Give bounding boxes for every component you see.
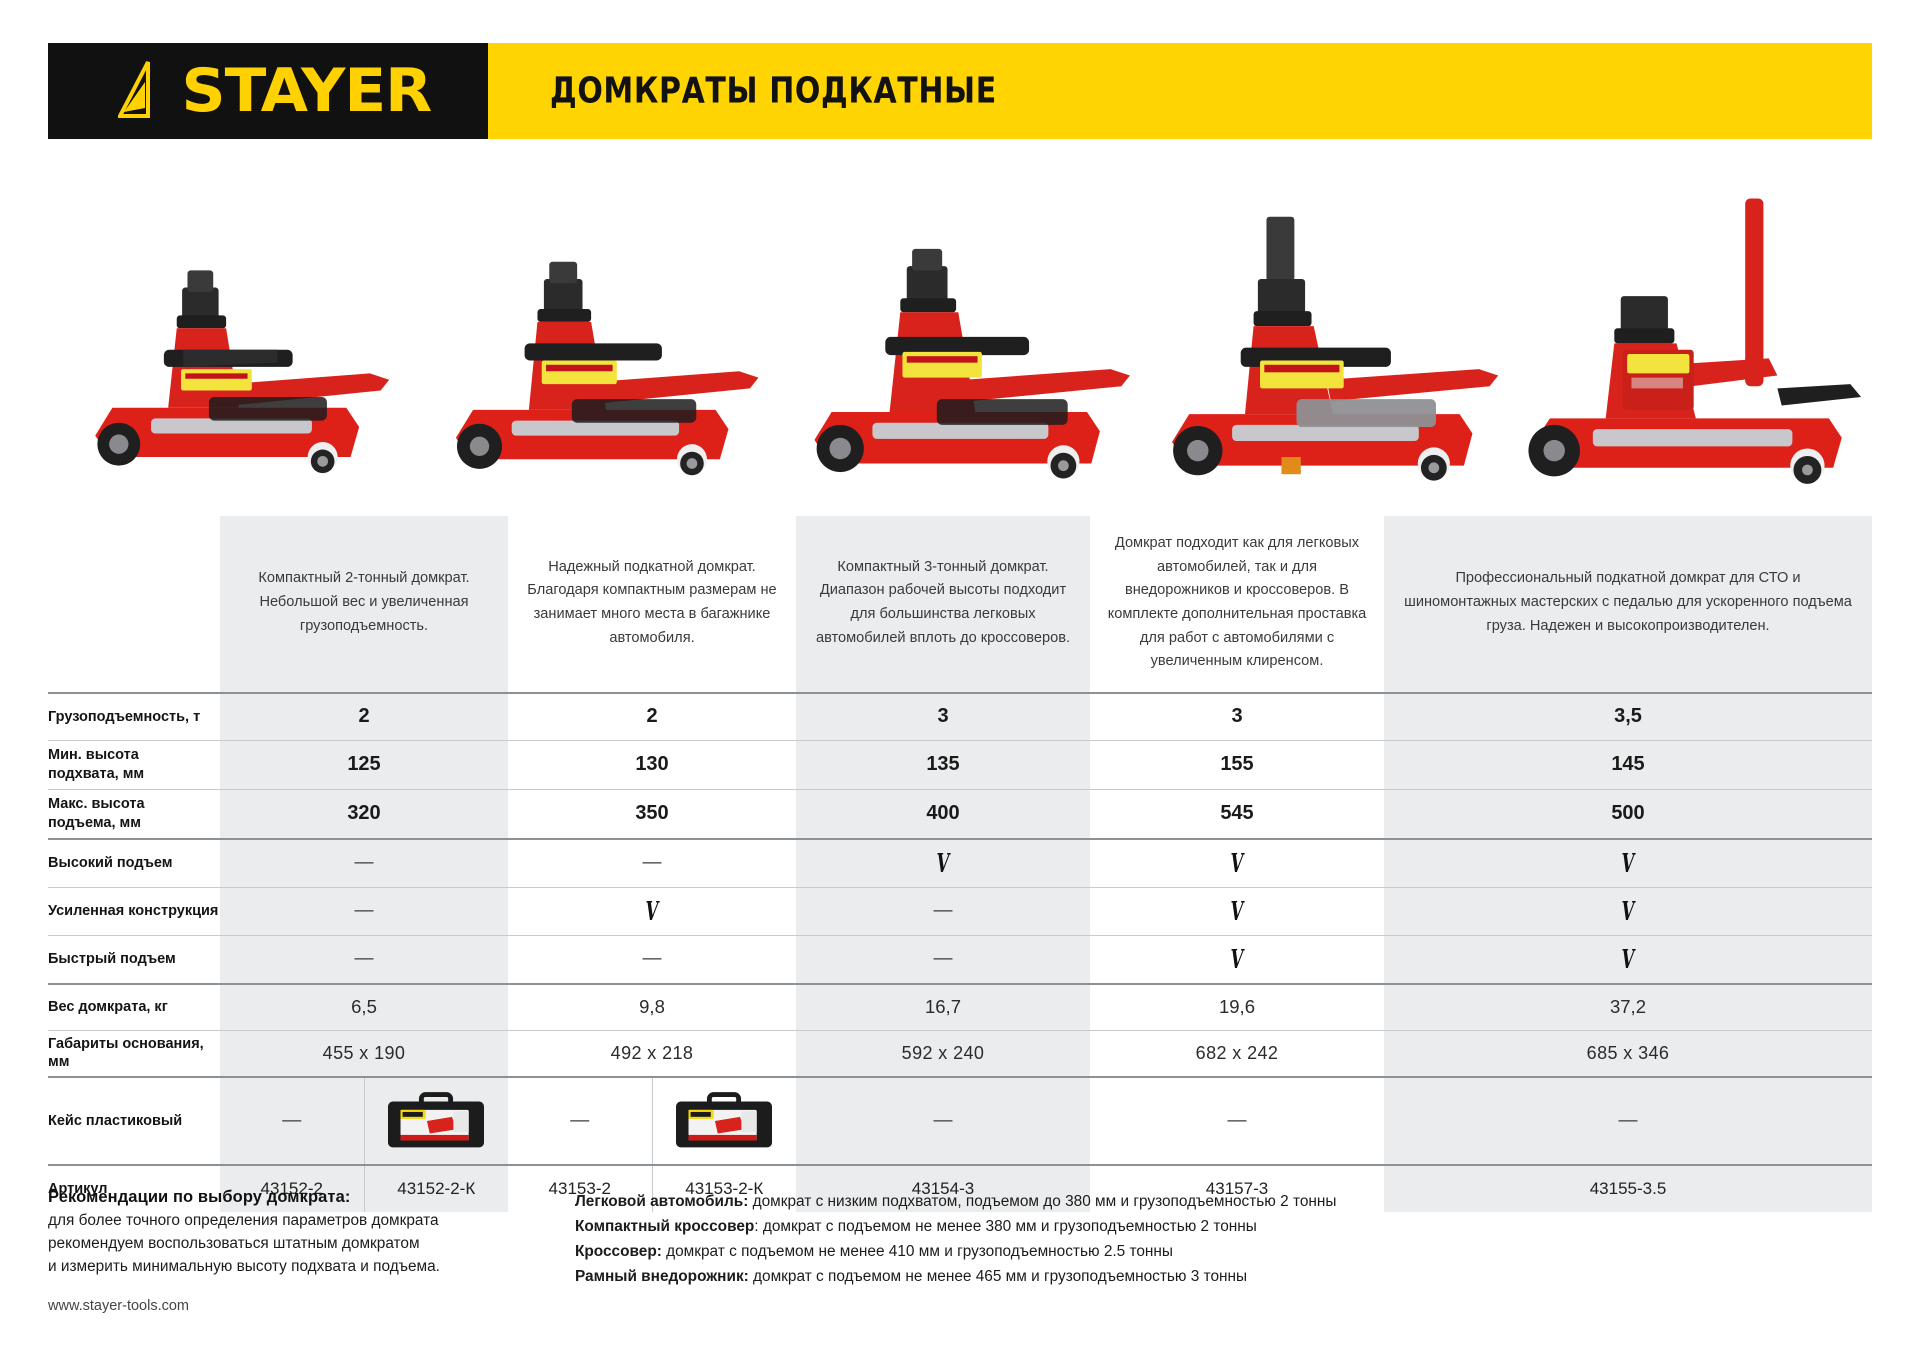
table-row-fast-lift: Быстрый подъем — — — V V bbox=[48, 935, 1872, 984]
row-label-reinforced: Усиленная конструкция bbox=[48, 887, 220, 935]
website-url[interactable]: www.stayer-tools.com bbox=[48, 1298, 568, 1314]
recommendations-block: Рекомендации по выбору домкрата: для бол… bbox=[48, 1188, 568, 1314]
check-mark-icon: V bbox=[1622, 896, 1635, 926]
capacity-value-4: 3 bbox=[1090, 693, 1384, 741]
max-height-value-5: 500 bbox=[1384, 789, 1872, 839]
check-mark-icon: V bbox=[1231, 848, 1244, 878]
recommendations-line-1: для более точного определения параметров… bbox=[48, 1209, 568, 1232]
capacity-value-3: 3 bbox=[796, 693, 1090, 741]
check-mark-icon: V bbox=[937, 848, 950, 878]
specs-table: Компактный 2-тонный домкрат. Небольшой в… bbox=[48, 516, 1872, 1212]
base-dim-value-1: 455 x 190 bbox=[220, 1030, 508, 1077]
base-dim-value-5: 685 x 346 bbox=[1384, 1030, 1872, 1077]
recommendations-line-2: рекомендуем воспользоваться штатным домк… bbox=[48, 1232, 568, 1255]
reinforced-value-2: V bbox=[508, 887, 796, 935]
table-row-high-lift: Высокий подъем — — V V V bbox=[48, 839, 1872, 888]
guide-line-4: Рамный внедорожник: домкрат с подъемом н… bbox=[575, 1265, 1865, 1290]
high-lift-value-1: — bbox=[220, 839, 508, 888]
product-photo-1 bbox=[48, 175, 413, 515]
case-cell-1: — bbox=[220, 1078, 364, 1164]
vehicle-guide-block: Легковой автомобиль: домкрат с низким по… bbox=[575, 1190, 1865, 1290]
min-height-value-3: 135 bbox=[796, 740, 1090, 789]
reinforced-value-3: — bbox=[796, 887, 1090, 935]
reinforced-value-1: — bbox=[220, 887, 508, 935]
page-title: ДОМКРАТЫ ПОДКАТНЫЕ bbox=[550, 70, 997, 111]
fast-lift-value-3: — bbox=[796, 935, 1090, 984]
fast-lift-value-5: V bbox=[1384, 935, 1872, 984]
min-height-value-2: 130 bbox=[508, 740, 796, 789]
floor-jack-icon-1 bbox=[48, 175, 413, 515]
dash-mark: — bbox=[1619, 1110, 1638, 1131]
guide-line-2: Компактный кроссовер: домкрат с подъемом… bbox=[575, 1215, 1865, 1240]
product-photo-3 bbox=[778, 175, 1143, 515]
row-label-min-height: Мин. высота подхвата, мм bbox=[48, 740, 220, 789]
brand-name: STAYER bbox=[181, 61, 431, 121]
high-lift-value-5: V bbox=[1384, 839, 1872, 888]
header-title-bar: ДОМКРАТЫ ПОДКАТНЫЕ bbox=[488, 43, 1872, 139]
product-photo-5 bbox=[1507, 175, 1872, 515]
plastic-case-icon bbox=[670, 1089, 778, 1153]
weight-value-1: 6,5 bbox=[220, 984, 508, 1031]
check-mark-icon: V bbox=[646, 896, 659, 926]
weight-value-3: 16,7 bbox=[796, 984, 1090, 1031]
brand-logo: STAYER bbox=[48, 43, 488, 139]
plastic-case-icon bbox=[382, 1089, 490, 1153]
table-row-min-height: Мин. высота подхвата, мм 125 130 135 155… bbox=[48, 740, 1872, 789]
guide-term-1: Легковой автомобиль: bbox=[575, 1193, 748, 1210]
dash-mark: — bbox=[934, 1110, 953, 1131]
row-label-max-height: Макс. высота подъема, мм bbox=[48, 789, 220, 839]
base-dim-value-2: 492 x 218 bbox=[508, 1030, 796, 1077]
guide-line-1: Легковой автомобиль: домкрат с низким по… bbox=[575, 1190, 1865, 1215]
recommendations-title: Рекомендации по выбору домкрата: bbox=[48, 1188, 568, 1207]
capacity-value-5: 3,5 bbox=[1384, 693, 1872, 741]
dash-mark: — bbox=[355, 852, 374, 873]
fast-lift-value-2: — bbox=[508, 935, 796, 984]
case-cell-group-1: — bbox=[220, 1077, 508, 1165]
case-cell-3: — bbox=[508, 1078, 652, 1164]
min-height-value-1: 125 bbox=[220, 740, 508, 789]
dash-mark: — bbox=[934, 900, 953, 921]
product-photo-4 bbox=[1142, 175, 1507, 515]
row-label-min-height-line2: подхвата, мм bbox=[48, 765, 220, 784]
row-label-weight: Вес домкрата, кг bbox=[48, 984, 220, 1031]
case-cell-group-2: — bbox=[508, 1077, 796, 1165]
case-cell-7: — bbox=[1384, 1077, 1872, 1165]
case-cell-5: — bbox=[796, 1077, 1090, 1165]
case-cell-2 bbox=[364, 1078, 509, 1164]
guide-text-3: домкрат с подъемом не менее 410 мм и гру… bbox=[662, 1243, 1173, 1260]
row-label-plastic-case: Кейс пластиковый bbox=[48, 1077, 220, 1165]
base-dim-value-3: 592 x 240 bbox=[796, 1030, 1090, 1077]
dash-mark: — bbox=[355, 900, 374, 921]
max-height-value-2: 350 bbox=[508, 789, 796, 839]
table-row-max-height: Макс. высота подъема, мм 320 350 400 545… bbox=[48, 789, 1872, 839]
guide-term-3: Кроссовер: bbox=[575, 1243, 662, 1260]
weight-value-4: 19,6 bbox=[1090, 984, 1384, 1031]
row-label-high-lift: Высокий подъем bbox=[48, 839, 220, 888]
max-height-value-4: 545 bbox=[1090, 789, 1384, 839]
fast-lift-value-1: — bbox=[220, 935, 508, 984]
description-cell-5: Профессиональный подкатной домкрат для С… bbox=[1384, 516, 1872, 693]
table-row-reinforced: Усиленная конструкция — V — V V bbox=[48, 887, 1872, 935]
guide-line-3: Кроссовер: домкрат с подъемом не менее 4… bbox=[575, 1240, 1865, 1265]
check-mark-icon: V bbox=[1231, 944, 1244, 974]
capacity-value-2: 2 bbox=[508, 693, 796, 741]
table-row-weight: Вес домкрата, кг 6,5 9,8 16,7 19,6 37,2 bbox=[48, 984, 1872, 1031]
reinforced-value-4: V bbox=[1090, 887, 1384, 935]
floor-jack-icon-3 bbox=[778, 175, 1143, 515]
max-height-value-3: 400 bbox=[796, 789, 1090, 839]
description-cell-1: Компактный 2-тонный домкрат. Небольшой в… bbox=[220, 516, 508, 693]
high-lift-value-4: V bbox=[1090, 839, 1384, 888]
row-label-max-height-line1: Макс. высота bbox=[48, 795, 220, 814]
case-cell-4 bbox=[652, 1078, 797, 1164]
product-comparison-sheet: STAYER ДОМКРАТЫ ПОДКАТНЫЕ bbox=[0, 0, 1920, 1357]
floor-jack-icon-4 bbox=[1142, 175, 1507, 515]
weight-value-5: 37,2 bbox=[1384, 984, 1872, 1031]
product-image-strip bbox=[48, 175, 1872, 515]
high-lift-value-3: V bbox=[796, 839, 1090, 888]
capacity-value-1: 2 bbox=[220, 693, 508, 741]
min-height-value-5: 145 bbox=[1384, 740, 1872, 789]
description-cell-2: Надежный подкатной домкрат. Благодаря ко… bbox=[508, 516, 796, 693]
case-cell-6: — bbox=[1090, 1077, 1384, 1165]
table-row-capacity: Грузоподъемность, т 2 2 3 3 3,5 bbox=[48, 693, 1872, 741]
guide-text-2: : домкрат с подъемом не менее 380 мм и г… bbox=[754, 1218, 1257, 1235]
weight-value-2: 9,8 bbox=[508, 984, 796, 1031]
table-row-plastic-case: Кейс пластиковый — bbox=[48, 1077, 1872, 1165]
row-label-base-dimensions: Габариты основания, мм bbox=[48, 1030, 220, 1077]
dash-mark: — bbox=[643, 852, 662, 873]
guide-term-4: Рамный внедорожник: bbox=[575, 1268, 749, 1285]
stayer-triangle-logo-icon bbox=[118, 60, 174, 122]
dash-mark: — bbox=[1228, 1110, 1247, 1131]
check-mark-icon: V bbox=[1622, 944, 1635, 974]
guide-term-2: Компактный кроссовер bbox=[575, 1218, 754, 1235]
row-label-capacity: Грузоподъемность, т bbox=[48, 693, 220, 741]
description-row: Компактный 2-тонный домкрат. Небольшой в… bbox=[48, 516, 1872, 693]
max-height-value-1: 320 bbox=[220, 789, 508, 839]
min-height-value-4: 155 bbox=[1090, 740, 1384, 789]
dash-mark: — bbox=[282, 1110, 301, 1132]
product-photo-2 bbox=[413, 175, 778, 515]
description-row-label bbox=[48, 516, 220, 693]
table-row-base-dimensions: Габариты основания, мм 455 x 190 492 x 2… bbox=[48, 1030, 1872, 1077]
check-mark-icon: V bbox=[1622, 848, 1635, 878]
description-cell-3: Компактный 3-тонный домкрат. Диапазон ра… bbox=[796, 516, 1090, 693]
row-label-min-height-line1: Мин. высота bbox=[48, 746, 220, 765]
fast-lift-value-4: V bbox=[1090, 935, 1384, 984]
recommendations-line-3: и измерить минимальную высоту подхвата и… bbox=[48, 1255, 568, 1278]
dash-mark: — bbox=[934, 948, 953, 969]
guide-text-4: домкрат с подъемом не менее 465 мм и гру… bbox=[749, 1268, 1247, 1285]
page-header: STAYER ДОМКРАТЫ ПОДКАТНЫЕ bbox=[48, 43, 1872, 139]
high-lift-value-2: — bbox=[508, 839, 796, 888]
description-cell-4: Домкрат подходит как для легковых автомо… bbox=[1090, 516, 1384, 693]
row-label-max-height-line2: подъема, мм bbox=[48, 814, 220, 833]
guide-text-1: домкрат с низким подхватом, подъемом до … bbox=[748, 1193, 1336, 1210]
row-label-fast-lift: Быстрый подъем bbox=[48, 935, 220, 984]
floor-jack-icon-2 bbox=[413, 175, 778, 515]
dash-mark: — bbox=[643, 948, 662, 969]
base-dim-value-4: 682 x 242 bbox=[1090, 1030, 1384, 1077]
dash-mark: — bbox=[570, 1110, 589, 1132]
dash-mark: — bbox=[355, 948, 374, 969]
check-mark-icon: V bbox=[1231, 896, 1244, 926]
reinforced-value-5: V bbox=[1384, 887, 1872, 935]
floor-jack-icon-5 bbox=[1507, 175, 1872, 515]
